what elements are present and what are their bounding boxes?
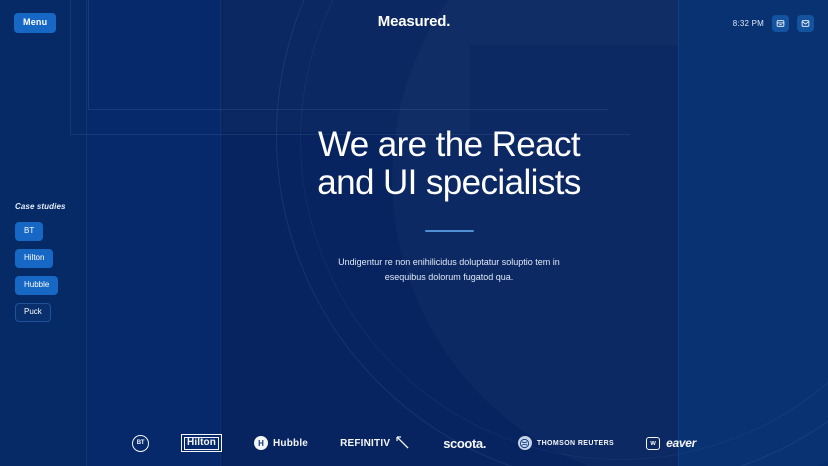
refinitiv-arrow-icon	[395, 435, 411, 451]
thomson-reuters-globe-icon	[518, 436, 532, 450]
case-study-chip-puck[interactable]: Puck	[15, 303, 51, 322]
case-studies-list: Hubble	[15, 274, 145, 301]
clock-label: 8:32 PM	[733, 19, 764, 28]
bg-divider-right	[678, 0, 679, 466]
top-bar: Menu Measured. 8:32 PM	[0, 0, 828, 46]
weaver-logo[interactable]: w eaver	[646, 436, 696, 450]
case-studies-list: Puck	[15, 301, 145, 328]
scoota-logo[interactable]: scoota.	[443, 436, 486, 451]
hilton-logo[interactable]: Hilton	[181, 434, 222, 452]
case-study-chip-bt[interactable]: BT	[15, 222, 43, 241]
mail-icon[interactable]	[797, 15, 814, 32]
hero-divider	[425, 230, 474, 232]
refinitiv-logo-text: REFINITIV	[340, 438, 390, 449]
hubble-logo-text: Hubble	[273, 438, 308, 449]
case-studies-list: Hilton	[15, 247, 145, 274]
thomson-reuters-logo[interactable]: THOMSON REUTERS	[518, 436, 614, 450]
hubble-mark-icon: H	[254, 436, 268, 450]
weaver-logo-text: eaver	[666, 436, 696, 450]
hero-body-text: Undigentur re non enihilicidus doluptatu…	[324, 255, 574, 287]
weaver-mark-icon: w	[646, 437, 660, 450]
hero-section: We are the React and UI specialists Undi…	[220, 126, 678, 286]
bt-mark-icon: BT	[132, 435, 149, 452]
hubble-logo[interactable]: H Hubble	[254, 436, 308, 450]
hilton-logo-text: Hilton	[181, 434, 222, 452]
bt-logo[interactable]: BT	[132, 435, 149, 452]
client-logo-strip: BT Hilton H Hubble REFINITIV scoota.	[0, 434, 828, 452]
page-title: We are the React and UI specialists	[220, 126, 678, 202]
inbox-icon[interactable]	[772, 15, 789, 32]
scoota-logo-text: scoota.	[443, 436, 486, 451]
headline-line-1: We are the React	[318, 125, 580, 164]
case-study-chip-hubble[interactable]: Hubble	[15, 276, 58, 295]
case-studies-panel: Case studies BT Hilton Hubble Puck	[15, 202, 145, 328]
menu-button[interactable]: Menu	[14, 13, 56, 33]
brand-logo: Measured.	[0, 13, 828, 30]
thomson-reuters-logo-text: THOMSON REUTERS	[537, 440, 614, 447]
top-bar-right: 8:32 PM	[733, 15, 814, 32]
headline-line-2: and UI specialists	[317, 163, 581, 202]
case-study-chip-hilton[interactable]: Hilton	[15, 249, 53, 268]
refinitiv-logo[interactable]: REFINITIV	[340, 435, 411, 451]
case-studies-list: BT	[15, 220, 145, 247]
case-studies-title: Case studies	[15, 202, 145, 211]
